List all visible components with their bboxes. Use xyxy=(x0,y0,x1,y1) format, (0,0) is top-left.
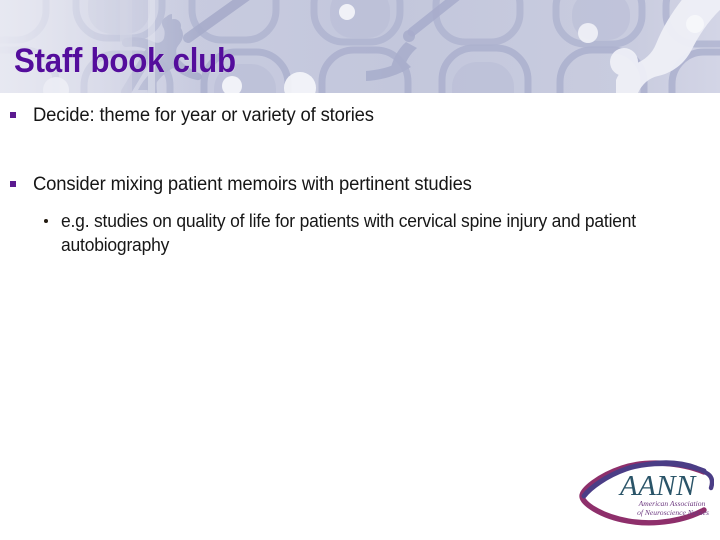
logo-wordmark: AANN xyxy=(620,472,696,501)
logo-tagline-line-2: of Neuroscience Nurses xyxy=(626,508,718,517)
page-title: Staff book club xyxy=(14,42,236,80)
slide: Staff book club Decide: theme for year o… xyxy=(0,0,720,540)
logo-tagline: American Association of Neuroscience Nur… xyxy=(626,499,718,518)
square-bullet-icon xyxy=(10,181,16,187)
logo-tagline-line-1: American Association xyxy=(626,499,718,508)
list-item: Consider mixing patient memoirs with per… xyxy=(10,172,700,197)
list-item: e.g. studies on quality of life for pati… xyxy=(44,209,704,257)
square-bullet-icon xyxy=(10,112,16,118)
bullet-text: Consider mixing patient memoirs with per… xyxy=(33,172,472,197)
list-item: Decide: theme for year or variety of sto… xyxy=(10,103,700,128)
aann-logo: AANN American Association of Neuroscienc… xyxy=(576,458,714,530)
round-dot-bullet-icon xyxy=(44,219,48,223)
sub-bullet-text: e.g. studies on quality of life for pati… xyxy=(61,209,666,257)
bullet-text: Decide: theme for year or variety of sto… xyxy=(33,103,374,128)
